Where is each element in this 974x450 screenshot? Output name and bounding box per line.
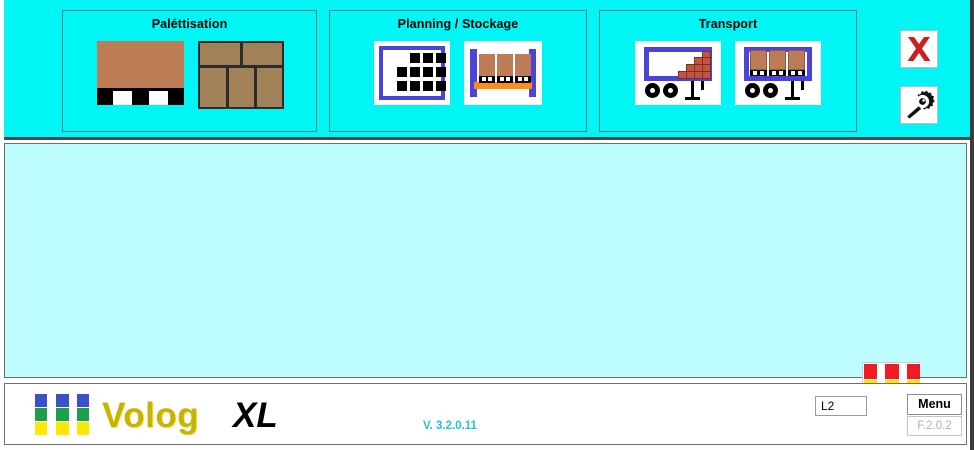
version-label: V. 3.2.0.11 <box>423 420 477 432</box>
top-toolbar: Paléttisation <box>0 0 974 140</box>
trailer-loaded-pallet <box>769 50 786 76</box>
group-transport: Transport <box>599 10 857 132</box>
menu-button[interactable]: Menu <box>907 394 962 415</box>
trailer-body-icon <box>644 47 712 81</box>
trailer-leg-foot-icon <box>785 97 800 100</box>
trailer-loaded-pallet <box>750 50 767 76</box>
group-palettisation-buttons <box>63 41 316 105</box>
pallet-top-cell <box>198 41 242 67</box>
pallet-side-base-shape <box>97 88 184 105</box>
pallet-side-view-button[interactable] <box>97 41 184 105</box>
close-x-icon <box>901 31 937 67</box>
toolbar-content: Paléttisation <box>4 2 972 135</box>
group-transport-title: Transport <box>600 17 856 31</box>
brand-name-primary: Volog <box>102 396 199 436</box>
close-button[interactable] <box>900 30 938 68</box>
trailer-leg-foot-icon <box>685 97 700 100</box>
trailer-wheel-icon <box>745 83 760 98</box>
application-window: Paléttisation <box>0 0 974 450</box>
group-palettisation-title: Paléttisation <box>63 17 316 31</box>
pallet-top-cell <box>227 66 256 109</box>
truck-pallets-button[interactable] <box>735 41 821 105</box>
gear-wrench-icon <box>901 87 937 123</box>
pallet-top-cell <box>241 41 284 67</box>
group-planning-stockage: Planning / Stockage <box>329 10 587 132</box>
grid-layout-icon <box>379 46 445 100</box>
group-transport-buttons <box>600 41 856 105</box>
logo-row <box>35 408 89 421</box>
pallet-side-carton-shape <box>97 41 184 88</box>
group-planning-stockage-title: Planning / Stockage <box>330 17 586 31</box>
trailer-kingpin-icon <box>801 81 804 90</box>
main-canvas: Intro <box>4 143 967 378</box>
volog-logo-icon <box>35 394 89 436</box>
form-code-label: F.2.0.2 <box>907 416 962 436</box>
rack-pallet <box>515 54 531 83</box>
status-bar: Volog XL V. 3.2.0.11 L2 Menu F.2.0.2 <box>4 383 967 445</box>
rack-post-left-icon <box>470 49 477 97</box>
pallet-top-cell <box>255 66 284 109</box>
rack-pallet <box>497 54 513 83</box>
truck-loading-button[interactable] <box>635 41 721 105</box>
group-palettisation: Paléttisation <box>62 10 317 132</box>
pallet-top-view-button[interactable] <box>198 41 282 105</box>
trailer-wheel-icon <box>763 83 778 98</box>
pallet-side-gap-right <box>149 91 168 105</box>
window-frame-left <box>0 0 4 450</box>
rack-pallet <box>479 54 495 83</box>
storage-grid-button[interactable] <box>374 41 450 105</box>
racking-button[interactable] <box>464 41 542 105</box>
intro-row <box>864 364 920 379</box>
window-frame-right <box>970 0 974 450</box>
group-planning-stockage-buttons <box>330 41 586 105</box>
level-field[interactable]: L2 <box>815 396 867 416</box>
pallet-top-cell <box>198 66 228 109</box>
logo-row <box>35 394 89 407</box>
trailer-loaded-pallet <box>788 50 805 76</box>
tools-button[interactable] <box>900 86 938 124</box>
logo-row <box>35 422 89 435</box>
trailer-kingpin-icon <box>701 81 704 90</box>
pallet-side-gap-left <box>113 91 132 105</box>
brand-name-secondary: XL <box>233 396 278 436</box>
trailer-wheel-icon <box>663 83 678 98</box>
rack-beam-icon <box>474 82 532 89</box>
trailer-wheel-icon <box>645 83 660 98</box>
